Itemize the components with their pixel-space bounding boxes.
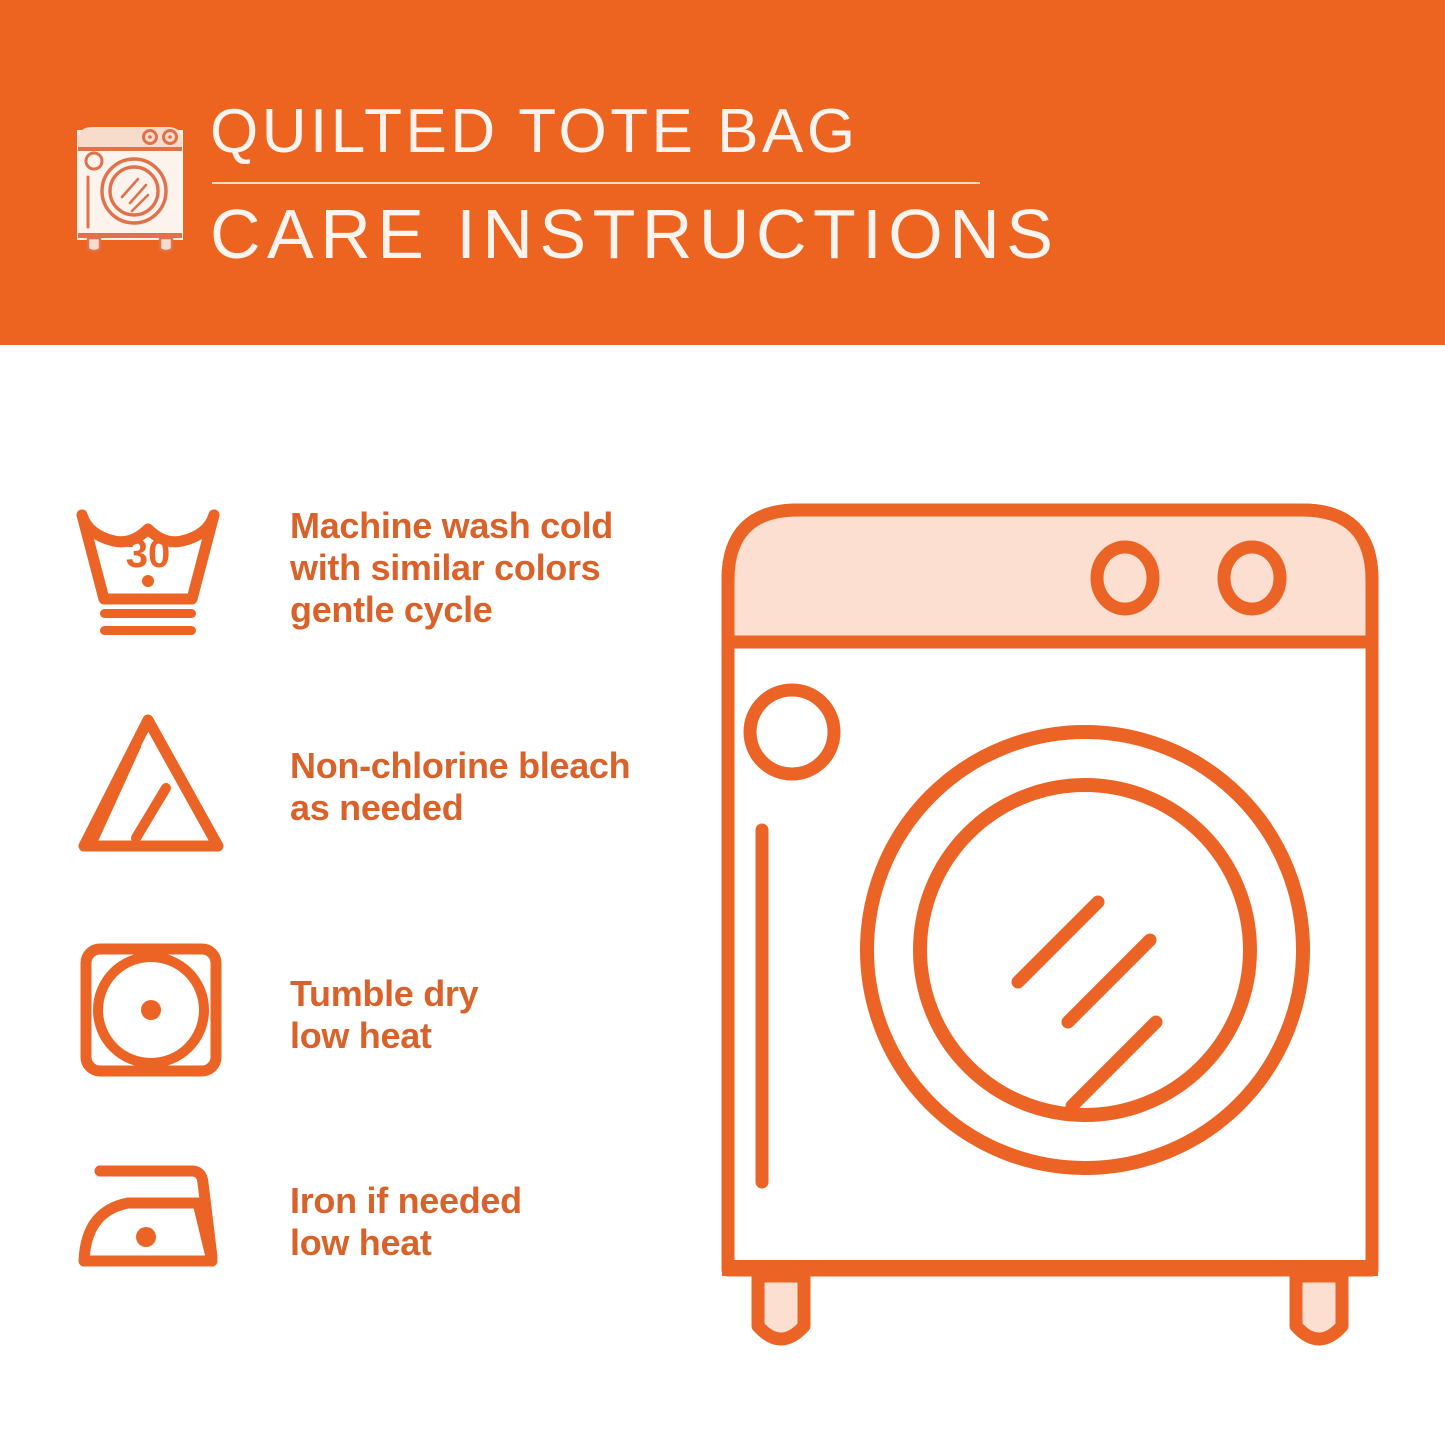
front-load-washing-machine-illustration xyxy=(700,470,1400,1370)
list-item-label: Machine wash cold with similar colors ge… xyxy=(290,505,613,631)
header-title-block: QUILTED TOTE BAG CARE INSTRUCTIONS xyxy=(210,96,1010,274)
page-title: QUILTED TOTE BAG xyxy=(210,96,1010,168)
washing-machine-icon xyxy=(66,103,194,253)
list-item-label: Non-chlorine bleach as needed xyxy=(290,745,630,829)
tumble-dry-low-heat-icon xyxy=(70,935,238,1085)
header-banner: QUILTED TOTE BAG CARE INSTRUCTIONS xyxy=(0,0,1445,345)
care-instructions-list: 30 Machine wash cold with similar colors… xyxy=(0,345,690,1445)
title-divider xyxy=(212,182,980,184)
list-item-label: Iron if needed low heat xyxy=(290,1180,522,1264)
iron-low-heat-icon xyxy=(70,1145,238,1295)
svg-text:30: 30 xyxy=(126,532,171,576)
care-instructions-infographic: QUILTED TOTE BAG CARE INSTRUCTIONS 30 xyxy=(0,0,1445,1445)
wash-tub-30-gentle-icon: 30 xyxy=(70,495,238,645)
page-subtitle: CARE INSTRUCTIONS xyxy=(210,194,1010,274)
list-item-label: Tumble dry low heat xyxy=(290,973,478,1057)
bleach-triangle-non-chlorine-icon xyxy=(70,710,238,860)
